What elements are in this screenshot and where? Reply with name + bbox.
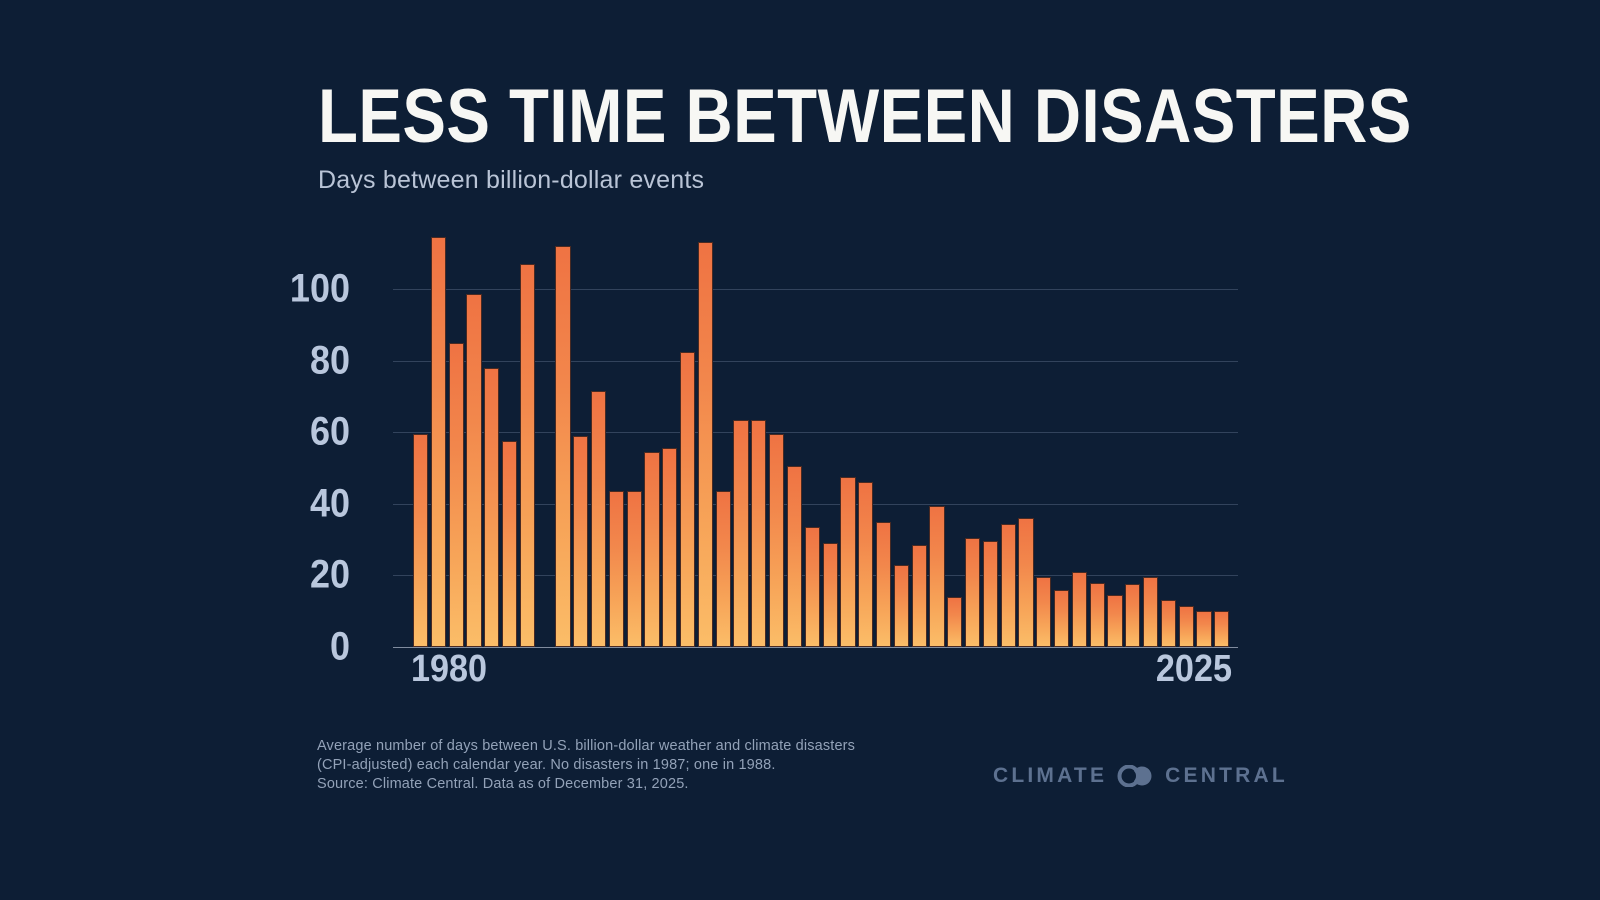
gridline-60 xyxy=(393,432,1238,433)
gridline-40 xyxy=(393,504,1238,505)
x-axis-end-label: 2025 xyxy=(1149,648,1232,691)
bar-2002 xyxy=(805,527,820,647)
page-title: LESS TIME BETWEEN DISASTERS xyxy=(318,78,1264,156)
y-tick-label-60: 60 xyxy=(278,410,350,455)
interlocking-circles-icon xyxy=(1116,765,1156,787)
bar-2007 xyxy=(894,565,909,647)
bar-1990 xyxy=(591,391,606,647)
gridline-0 xyxy=(393,647,1238,648)
bar-series xyxy=(413,247,1232,647)
bar-2017 xyxy=(1072,572,1087,647)
bar-1986 xyxy=(520,264,535,647)
bar-2016 xyxy=(1054,590,1069,647)
bar-1996 xyxy=(698,242,713,647)
bar-1982 xyxy=(449,343,464,647)
bar-2025 xyxy=(1214,611,1229,647)
header: LESS TIME BETWEEN DISASTERS Days between… xyxy=(318,78,1418,195)
bar-2015 xyxy=(1036,577,1051,647)
bar-2003 xyxy=(823,543,838,647)
y-tick-label-100: 100 xyxy=(278,267,350,312)
y-tick-label-80: 80 xyxy=(278,338,350,383)
bar-1991 xyxy=(609,491,624,647)
y-tick-label-0: 0 xyxy=(278,625,350,670)
bar-2019 xyxy=(1107,595,1122,647)
bar-2004 xyxy=(840,477,855,647)
bar-2020 xyxy=(1125,584,1140,647)
bar-2008 xyxy=(912,545,927,647)
bar-1988 xyxy=(555,246,570,647)
bar-2000 xyxy=(769,434,784,647)
bar-1983 xyxy=(466,294,481,647)
logo-text-central: CENTRAL xyxy=(1165,764,1288,788)
bar-2024 xyxy=(1196,611,1211,647)
x-axis-start-label: 1980 xyxy=(411,648,487,691)
bar-1984 xyxy=(484,368,499,647)
bar-2012 xyxy=(983,541,998,647)
gridline-80 xyxy=(393,361,1238,362)
bar-2014 xyxy=(1018,518,1033,647)
logo-text-climate: CLIMATE xyxy=(993,764,1107,788)
bar-2021 xyxy=(1143,577,1158,647)
bar-1998 xyxy=(733,420,748,647)
footnote: Average number of days between U.S. bill… xyxy=(317,737,855,794)
bar-1993 xyxy=(644,452,659,647)
bar-1992 xyxy=(627,491,642,647)
infographic-card: LESS TIME BETWEEN DISASTERS Days between… xyxy=(0,0,1600,900)
bar-2005 xyxy=(858,482,873,647)
gridline-20 xyxy=(393,575,1238,576)
bar-1985 xyxy=(502,441,517,647)
bar-2022 xyxy=(1161,600,1176,647)
bar-1980 xyxy=(413,434,428,647)
bar-2006 xyxy=(876,522,891,647)
footnote-line-2: (CPI-adjusted) each calendar year. No di… xyxy=(317,756,855,775)
page-subtitle: Days between billion-dollar events xyxy=(318,166,1418,195)
climate-central-logo: CLIMATE CENTRAL xyxy=(993,764,1288,788)
bar-1995 xyxy=(680,352,695,647)
bar-1989 xyxy=(573,436,588,647)
footnote-line-1: Average number of days between U.S. bill… xyxy=(317,737,855,756)
bar-1981 xyxy=(431,237,446,647)
y-tick-label-20: 20 xyxy=(278,553,350,598)
bar-1997 xyxy=(716,491,731,647)
footnote-line-3: Source: Climate Central. Data as of Dece… xyxy=(317,775,855,794)
bar-2023 xyxy=(1179,606,1194,647)
y-tick-label-40: 40 xyxy=(278,481,350,526)
gridline-100 xyxy=(393,289,1238,290)
bar-2010 xyxy=(947,597,962,647)
bar-2013 xyxy=(1001,524,1016,648)
bar-1999 xyxy=(751,420,766,647)
bar-2018 xyxy=(1090,583,1105,647)
bar-2001 xyxy=(787,466,802,647)
bar-2009 xyxy=(929,506,944,647)
bar-1994 xyxy=(662,448,677,647)
bar-2011 xyxy=(965,538,980,647)
